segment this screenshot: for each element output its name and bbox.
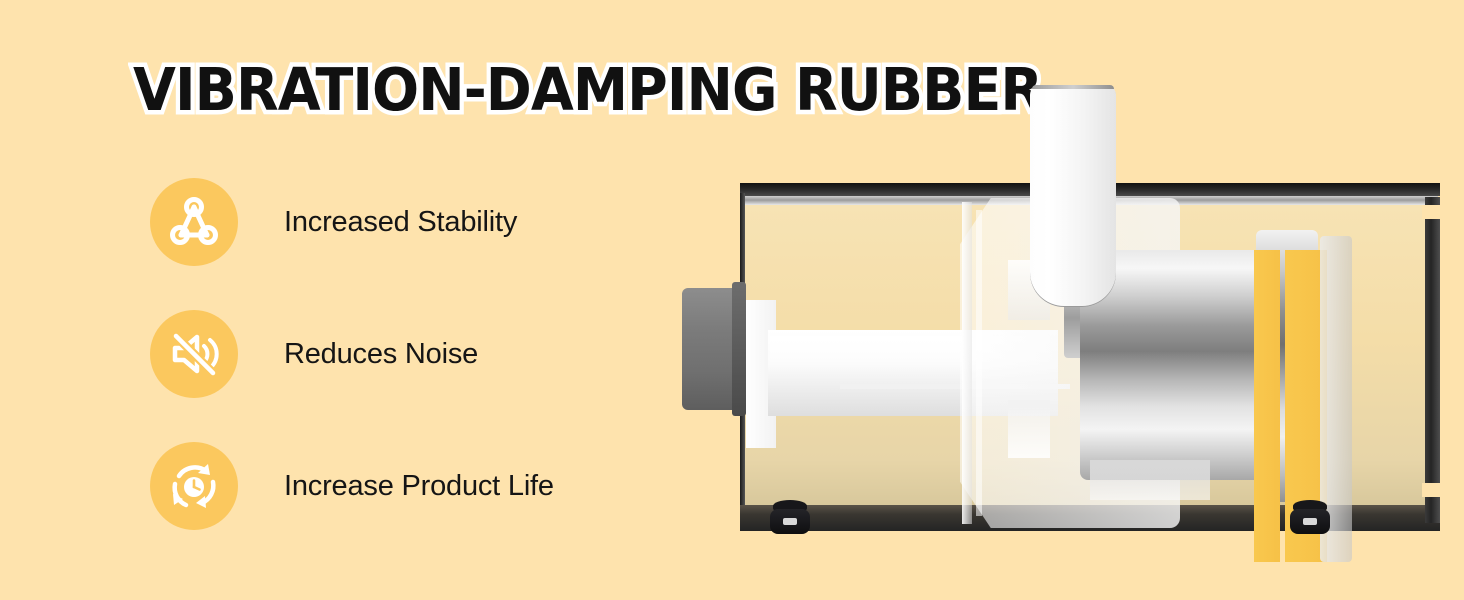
top-outlet-port [1030,85,1116,307]
water-pump-cutaway-illustration [660,60,1380,540]
housing-right-notch-top [1422,205,1442,219]
rubber-foot-right [1290,500,1330,534]
feature-list: Increased Stability Reduces Noise [150,178,670,574]
feature-label: Increase Product Life [284,470,554,503]
muted-speaker-icon [150,310,238,398]
feature-item-reduces-noise: Reduces Noise [150,310,670,398]
rubber-foot-slot [783,518,797,525]
housing-right-edge [1425,197,1440,523]
housing-right-notch-bottom [1422,483,1442,497]
clock-recycle-arrows-icon [150,442,238,530]
feature-item-increase-product-life: Increase Product Life [150,442,670,530]
inlet-nozzle-collar [732,282,746,416]
rubber-foot-slot [1303,518,1317,525]
feature-label: Reduces Noise [284,338,478,371]
product-feature-banner: VIBRATION-DAMPING RUBBER Increased Stabi… [0,0,1464,600]
feature-item-increased-stability: Increased Stability [150,178,670,266]
chamber-step-lower [1008,400,1050,458]
top-outlet-port-rim [1032,85,1114,89]
rubber-foot-left [770,500,810,534]
rotor-tail [1090,460,1210,500]
feature-label: Increased Stability [284,206,517,239]
vibration-damping-rubber-band [1254,250,1280,562]
chamber-edge-outer [962,202,972,524]
stability-triangle-nodes-icon [150,178,238,266]
chamber-edge-inner [976,210,982,516]
